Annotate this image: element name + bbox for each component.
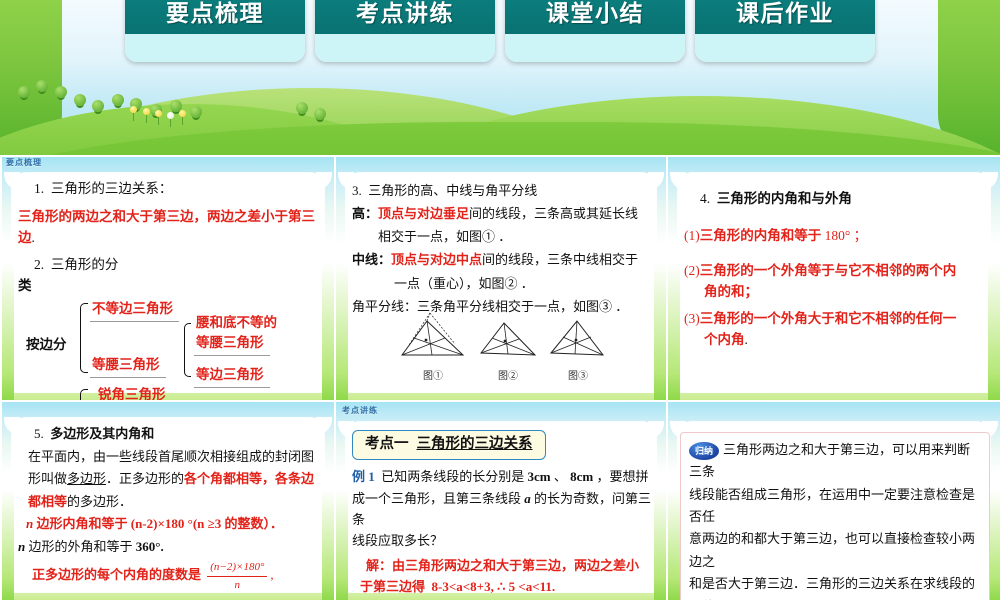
rule-3-cont: 个内角. — [684, 330, 988, 351]
fraction-comma: , — [270, 567, 273, 582]
heading-line: 5. 多边形及其内角和 — [18, 424, 322, 444]
kaodian-heading: 考点一三角形的三边关系 — [352, 430, 546, 460]
median-highlight: 顶点与对边中点 — [391, 252, 482, 267]
example-value-2: 8cm — [570, 469, 593, 484]
formula-value: (n-2)×180 ° — [131, 516, 193, 531]
altitude-line: 高：顶点与对边垂足间的线段，三条高或其延长线 — [352, 204, 654, 224]
flower-icon — [143, 108, 150, 115]
solution-2a: 于第三边得 — [360, 579, 425, 594]
fraction-numerator: (n−2)×180° — [207, 559, 267, 577]
solution-2b: 8-3<a<8+3, ∴ 5 <a<11. — [432, 579, 556, 594]
rule-2-cont: 角的和； — [684, 282, 988, 303]
by-side-label: 按边分 — [26, 335, 67, 356]
item-title: 多边形及其内角和 — [50, 426, 154, 441]
heading-line-2: 2. 三角形的分 — [18, 255, 322, 276]
brace-isosceles — [184, 323, 191, 377]
exterior-text: 边形的外角和等于 — [28, 539, 132, 554]
by-side-item-1: 不等边三角形 — [90, 299, 179, 322]
triangle-bisector-icon — [547, 311, 609, 361]
panel-grid: 要点梳理 1. 三角形的三边关系： 三角形的两边之和大于第三边，两边之差小于第三… — [0, 155, 1000, 600]
tab-top-kaodianjianglian: 考点讲练 — [315, 0, 495, 34]
figure-3: 图③ — [547, 311, 609, 384]
def-2b: ．正多边形的 — [106, 471, 184, 486]
median-label: 中线： — [352, 252, 391, 267]
summary-line-3: 意两边的和都大于第三边，也可以直接检查较小两边之 — [689, 528, 981, 573]
example-label: 例 1 — [352, 469, 375, 484]
guina-badge: 归纳 — [689, 442, 719, 460]
by-angle-item-1: 锐角三角形 — [96, 385, 172, 400]
panel-triangle-sides: 要点梳理 1. 三角形的三边关系： 三角形的两边之和大于第三边，两边之差小于第三… — [0, 155, 334, 400]
brace-by-angle — [80, 389, 88, 400]
flower-icon — [155, 110, 162, 117]
summary-text-1: 三角形两边之和大于第三边，可以用来判断三条 — [689, 442, 970, 479]
slide-root: 要点梳理 考点讲练 课堂小结 课后作业 — [0, 0, 1000, 600]
exterior-n: n — [18, 539, 25, 554]
summary-line-2: 线段能否组成三角形，在运用中一定要注意检查是否任 — [689, 484, 981, 529]
panel-content: 1. 三角形的三边关系： 三角形的两边之和大于第三边，两边之差小于第三边. 2.… — [18, 179, 322, 400]
panel-polygon-angles: 5. 多边形及其内角和 在平面内，由一些线段首尾顺次相接组成的封闭图 形叫做多边… — [0, 400, 334, 600]
item-number: 3. — [352, 183, 362, 198]
tab-kaodianjianglian[interactable]: 考点讲练 — [315, 0, 495, 62]
header-banner: 要点梳理 考点讲练 课堂小结 课后作业 — [0, 0, 1000, 155]
tree-icon — [92, 100, 104, 112]
figure-caption: 图① — [397, 369, 469, 385]
tab-label: 课堂小结 — [546, 0, 644, 28]
heading-line: 1. 三角形的三边关系： — [18, 179, 322, 200]
panel-content: 4. 三角形的内角和与外角 (1)三角形的内角和等于 180° ； (2)三角形… — [684, 189, 988, 400]
tab-top-ketangxiaojie: 课堂小结 — [505, 0, 685, 34]
median-line-2: 一点（重心），如图② ． — [352, 274, 654, 294]
def-3b: 的多边形． — [67, 494, 132, 509]
isosceles-sub-1a: 腰和底不等的 — [194, 313, 283, 335]
rule-3-text: 三角形的一个外角大于和它不相邻的任何一 — [700, 311, 957, 326]
tree-icon — [55, 86, 67, 98]
definition-line-3: 都相等的多边形． — [18, 492, 322, 512]
formula-each-interior: 正多边形的每个内角的度数是 (n−2)×180° n , — [18, 559, 322, 593]
rule-2-text: 三角形的一个外角等于与它不相邻的两个内 — [700, 263, 957, 278]
panel-content: 归纳三角形两边之和大于第三边，可以用来判断三条 线段能否组成三角形，在运用中一定… — [680, 432, 990, 600]
triangle-median-icon — [477, 311, 539, 361]
tree-icon — [314, 108, 326, 120]
example-text-1b: ，要想拼 — [597, 469, 649, 484]
rule-period: . — [32, 230, 35, 245]
panel-interior-exterior-angles: 4. 三角形的内角和与外角 (1)三角形的内角和等于 180° ； (2)三角形… — [666, 155, 1000, 400]
figure-1: 图① — [397, 311, 469, 384]
solution-line-1: 解：由三角形两边之和大于第三边，两边之差小 — [352, 555, 654, 576]
figure-2: 图② — [477, 311, 539, 384]
flower-icon — [179, 110, 186, 117]
tree-icon — [74, 94, 86, 106]
rule-3-period: . — [745, 332, 748, 347]
tab-bottom — [315, 34, 495, 62]
fraction-denominator: n — [207, 577, 267, 594]
flower-icon — [130, 106, 137, 113]
by-side-item-2: 等腰三角形 — [90, 355, 166, 378]
flower-stem — [182, 116, 183, 125]
altitude-rest: 间的线段，三条高或其延长线 — [469, 206, 638, 221]
tree-icon — [112, 94, 124, 106]
tree-icon — [296, 102, 308, 114]
rule-line: 三角形的两边之和大于第三边，两边之差小于第三边. — [18, 207, 322, 249]
heading-line: 3. 三角形的高、中线与角平分线 — [352, 181, 654, 201]
rule-3-cont-text: 个内角 — [704, 332, 745, 347]
rule-text: 三角形的两边之和大于第三边，两边之差小于第三边 — [18, 209, 315, 245]
flower-stem — [133, 112, 134, 121]
tab-top-yaodianshuli: 要点梳理 — [125, 0, 305, 34]
summary-line-1: 归纳三角形两边之和大于第三边，可以用来判断三条 — [689, 439, 981, 484]
formula-interior: n 边形内角和等于 (n-2)×180 °(n ≥3 的整数）． — [18, 514, 322, 534]
item-title: 三角形的三边关系： — [51, 181, 173, 196]
rule-3: (3)三角形的一个外角大于和它不相邻的任何一 — [684, 309, 988, 330]
triangle-altitude-icon — [397, 311, 469, 361]
tab-ketangxiaojie[interactable]: 课堂小结 — [505, 0, 685, 62]
each-interior-text: 正多边形的每个内角的度数是 — [32, 567, 201, 582]
panel-content: 考点一三角形的三边关系 例 1 已知两条线段的长分别是 3cm 、 8cm ，要… — [352, 430, 654, 600]
def-2-highlight: 各个角都相等，各条边 — [184, 471, 314, 486]
nav-tabs: 要点梳理 考点讲练 课堂小结 课后作业 — [125, 0, 880, 62]
definition-line-1: 在平面内，由一些线段首尾顺次相接组成的封闭图 — [18, 447, 322, 467]
summary-box: 归纳三角形两边之和大于第三边，可以用来判断三条 线段能否组成三角形，在运用中一定… — [680, 432, 990, 600]
example-variable: a — [524, 491, 531, 506]
kaodian-label: 考点一 — [365, 436, 409, 452]
def-term: 多边形 — [67, 471, 106, 486]
formula-text: 边形内角和等于 — [36, 516, 127, 531]
tab-label: 要点梳理 — [166, 0, 264, 28]
tab-bottom — [505, 34, 685, 62]
panel-content: 5. 多边形及其内角和 在平面内，由一些线段首尾顺次相接组成的封闭图 形叫做多边… — [18, 424, 322, 600]
rule-2: (2)三角形的一个外角等于与它不相邻的两个内 — [684, 261, 988, 282]
rule-1-text: 三角形的内角和等于 — [700, 228, 822, 243]
tree-icon — [36, 80, 48, 92]
flower-stem — [170, 118, 171, 127]
tab-bottom — [695, 34, 875, 62]
tab-yaodianshuli[interactable]: 要点梳理 — [125, 0, 305, 62]
tab-label: 课后作业 — [736, 0, 834, 28]
panel-content: 3. 三角形的高、中线与角平分线 高：顶点与对边垂足间的线段，三条高或其延长线 … — [352, 181, 654, 400]
panel-tag: 要点梳理 — [6, 157, 42, 168]
formula-cond: (n ≥3 的整数）． — [193, 516, 283, 531]
median-rest: 间的线段，三条中线相交于 — [482, 252, 638, 267]
item-number: 4. — [700, 191, 710, 206]
item-title: 三角形的高、中线与角平分线 — [368, 183, 537, 198]
tree-icon — [190, 106, 202, 118]
rule-1-number: (1) — [684, 228, 700, 243]
item-number: 1. — [34, 181, 44, 196]
figure-caption: 图② — [477, 369, 539, 385]
rule-3-number: (3) — [684, 311, 700, 326]
rule-1-value: 180° — [825, 228, 851, 243]
item-title: 三角形的分 — [51, 257, 119, 272]
isosceles-sub-1b: 等腰三角形 — [194, 333, 270, 356]
flower-icon — [167, 112, 174, 119]
triangle-figures: 图① 图② — [397, 311, 609, 384]
summary-line-4: 和是否大于第三边．三角形的三边关系在求线段的取值 — [689, 573, 981, 600]
panel-altitude-median-bisector: 3. 三角形的高、中线与角平分线 高：顶点与对边垂足间的线段，三条高或其延长线 … — [334, 155, 666, 400]
classification-tree: 按边分 不等边三角形 等腰三角形 腰和底不等的 等腰三角形 等边三角形 按角分 … — [18, 299, 322, 400]
tab-label: 考点讲练 — [356, 0, 454, 28]
example-value-1: 3cm — [528, 469, 551, 484]
item-title: 三角形的内角和与外角 — [717, 191, 852, 206]
def-2a: 形叫做 — [28, 471, 67, 486]
kaodian-title: 三角形的三边关系 — [417, 436, 533, 452]
tab-bottom — [125, 34, 305, 62]
panel-summary: 归纳三角形两边之和大于第三边，可以用来判断三条 线段能否组成三角形，在运用中一定… — [666, 400, 1000, 600]
example-text-2a: 成一个三角形，且第三条线段 — [352, 491, 521, 506]
example-line-2: 成一个三角形，且第三条线段 a 的长为奇数，问第三条 — [352, 488, 654, 530]
example-text-1a: 已知两条线段的长分别是 — [381, 469, 524, 484]
item-number: 5. — [34, 426, 44, 441]
panel-example-1: 考点讲练 考点一三角形的三边关系 例 1 已知两条线段的长分别是 3cm 、 8… — [334, 400, 666, 600]
definition-line-2: 形叫做多边形．正多边形的各个角都相等，各条边 — [18, 469, 322, 489]
flower-stem — [158, 116, 159, 125]
altitude-highlight: 顶点与对边垂足 — [378, 206, 469, 221]
altitude-label: 高： — [352, 206, 378, 221]
rule-1-end: ； — [854, 228, 868, 243]
median-line: 中线：顶点与对边中点间的线段，三条中线相交于 — [352, 250, 654, 270]
rule-1: (1)三角形的内角和等于 180° ； — [684, 226, 988, 247]
figure-caption: 图③ — [547, 369, 609, 385]
fraction: (n−2)×180° n — [207, 559, 267, 593]
brace-by-side — [80, 303, 88, 373]
example-line-1: 例 1 已知两条线段的长分别是 3cm 、 8cm ，要想拼 — [352, 466, 654, 487]
formula-exterior: n 边形的外角和等于 360°. — [18, 537, 322, 557]
tree-icon — [18, 86, 30, 98]
item-title-cont: 类 — [18, 276, 322, 297]
panel-tag: 考点讲练 — [342, 405, 378, 416]
item-number: 2. — [34, 257, 44, 272]
heading-line: 4. 三角形的内角和与外角 — [684, 189, 988, 210]
tab-top-kehouzuoye: 课后作业 — [695, 0, 875, 34]
rule-2-number: (2) — [684, 263, 700, 278]
tab-kehouzuoye[interactable]: 课后作业 — [695, 0, 875, 62]
solution-line-2: 于第三边得 8-3<a<8+3, ∴ 5 <a<11. — [352, 576, 654, 597]
formula-n: n — [26, 516, 33, 531]
example-separator: 、 — [554, 469, 567, 484]
isosceles-sub-2: 等边三角形 — [194, 365, 270, 388]
flower-stem — [146, 114, 147, 123]
def-3-highlight: 都相等 — [28, 494, 67, 509]
exterior-value: 360°. — [136, 539, 164, 554]
altitude-line-2: 相交于一点，如图① ． — [352, 227, 654, 247]
example-line-3: 线段应取多长？ — [352, 530, 654, 551]
